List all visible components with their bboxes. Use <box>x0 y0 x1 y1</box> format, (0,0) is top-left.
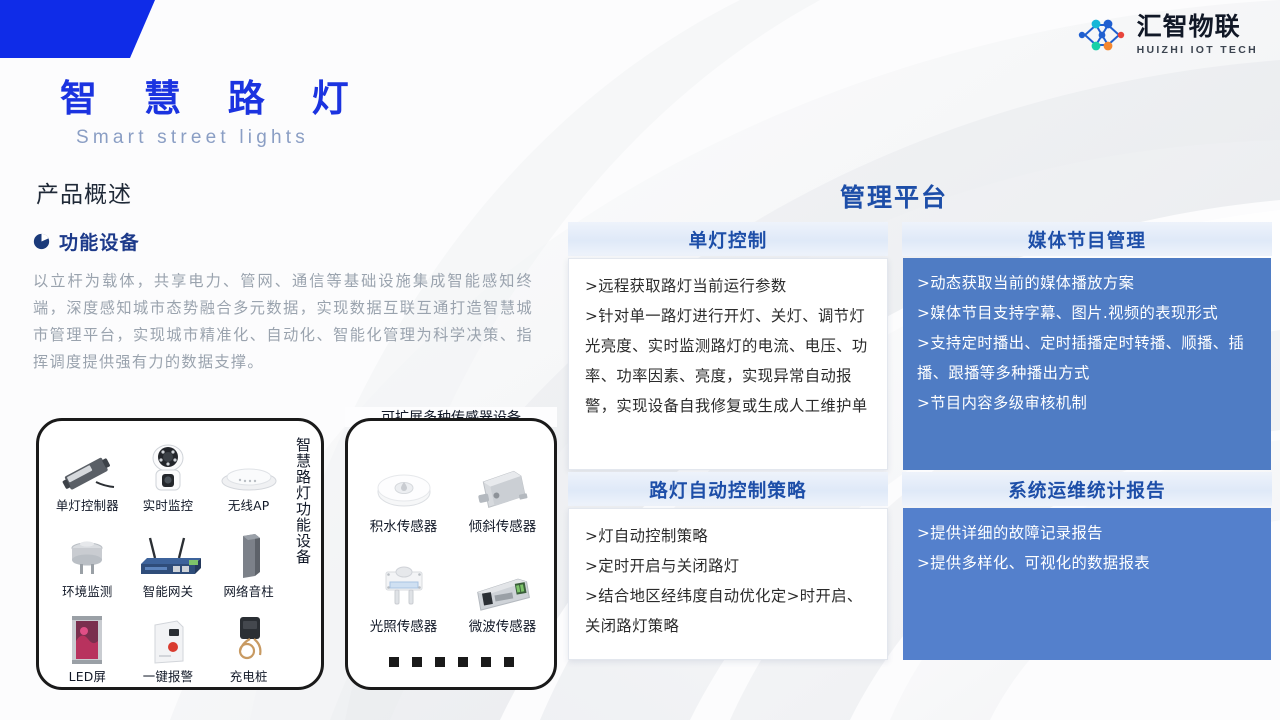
panel-line: >远程获取路灯当前运行参数 <box>585 271 873 301</box>
ptz-camera-icon <box>144 444 192 494</box>
microwave-sensor-icon <box>470 556 536 612</box>
device-item: 智能网关 <box>128 514 209 599</box>
led-screen-icon <box>67 615 107 665</box>
dot <box>458 657 468 667</box>
panel-line: >定时开启与关闭路灯 <box>585 551 873 581</box>
sensor-item: 积水传感器 <box>354 435 453 535</box>
device-item: 充电桩 <box>208 600 289 685</box>
dot <box>504 657 514 667</box>
wireless-ap-icon <box>218 444 280 494</box>
network-nodes-icon <box>1075 14 1129 56</box>
device-label: 智能网关 <box>143 582 193 600</box>
device-label: 充电桩 <box>230 667 268 685</box>
device-item: 网络音柱 <box>208 514 289 599</box>
device-label: 网络音柱 <box>223 582 273 600</box>
section-title-product-overview: 产品概述 <box>36 175 132 209</box>
device-label: 环境监测 <box>62 582 112 600</box>
dot <box>389 657 399 667</box>
tilt-sensor-icon <box>471 456 535 512</box>
panel-body-auto-control-strategy: >灯自动控制策略 >定时开启与关闭路灯 >结合地区经纬度自动优化定>时开启、关闭… <box>568 508 888 660</box>
water-level-sensor-icon <box>372 456 436 512</box>
overview-paragraph: 以立杆为载体，共享电力、管网、通信等基础设施集成智能感知终端，深度感知城市态势融… <box>33 268 533 376</box>
device-list-box: 单灯控制器 实时监控 <box>36 418 324 690</box>
device-item: 单灯控制器 <box>47 429 128 514</box>
panel-line: >灯自动控制策略 <box>585 521 873 551</box>
panel-line: >提供详细的故障记录报告 <box>917 518 1259 548</box>
platform-title: 管理平台 <box>840 178 948 214</box>
device-grid: 单灯控制器 实时监控 <box>47 429 289 685</box>
device-label: LED屏 <box>69 667 106 685</box>
panel-body-single-lamp-control: >远程获取路灯当前运行参数 >针对单一路灯进行开灯、关灯、调节灯光亮度、实时监测… <box>568 258 888 470</box>
sensor-item: 微波传感器 <box>453 535 552 635</box>
device-box-vertical-label: 智慧路灯功能设备 <box>287 437 313 675</box>
device-label: 一键报警 <box>143 667 193 685</box>
light-sensor-icon <box>372 556 436 612</box>
sensor-label: 光照传感器 <box>370 615 438 635</box>
feature-heading: 功能设备 <box>33 228 140 255</box>
panel-header-single-lamp-control: 单灯控制 <box>568 227 888 253</box>
device-item: 无线AP <box>208 429 289 514</box>
sensor-list-box: 积水传感器 倾斜传感器 <box>345 418 557 690</box>
device-item: 实时监控 <box>128 429 209 514</box>
device-label: 实时监控 <box>143 496 193 514</box>
device-item: LED屏 <box>47 600 128 685</box>
panel-header-ops-statistics-report: 系统运维统计报告 <box>902 477 1272 503</box>
panel-header-auto-control-strategy: 路灯自动控制策略 <box>568 477 888 503</box>
panel-line: >提供多样化、可视化的数据报表 <box>917 548 1259 578</box>
dot <box>435 657 445 667</box>
smart-gateway-icon <box>133 530 203 580</box>
network-speaker-icon <box>234 530 264 580</box>
device-item: 环境监测 <box>47 514 128 599</box>
brand-logo-text: 汇智物联 HUIZHI IOT TECH <box>1137 14 1258 55</box>
device-item: 一键报警 <box>128 600 209 685</box>
panel-line: >媒体节目支持字幕、图片.视频的表现形式 <box>917 298 1259 328</box>
lamp-controller-icon <box>56 444 118 494</box>
sensor-grid: 积水传感器 倾斜传感器 <box>354 435 552 635</box>
panel-body-media-program-management: >动态获取当前的媒体播放方案 >媒体节目支持字幕、图片.视频的表现形式 >支持定… <box>903 258 1271 470</box>
device-label: 单灯控制器 <box>56 496 119 514</box>
panel-header-media-program-management: 媒体节目管理 <box>902 227 1272 253</box>
brand-name-en: HUIZHI IOT TECH <box>1137 44 1258 56</box>
sensor-item: 光照传感器 <box>354 535 453 635</box>
panel-line: >结合地区经纬度自动优化定>时开启、关闭路灯策略 <box>585 581 873 641</box>
expansion-dots <box>348 657 554 667</box>
slide-root: 汇智物联 HUIZHI IOT TECH 智 慧 路 灯 Smart stree… <box>0 0 1280 720</box>
panel-line: >支持定时播出、定时插播定时转播、顺播、插播、跟播等多种播出方式 <box>917 328 1259 388</box>
feature-heading-label: 功能设备 <box>59 228 140 255</box>
brand-name-cn: 汇智物联 <box>1137 14 1241 40</box>
dot <box>481 657 491 667</box>
sensor-label: 微波传感器 <box>469 615 537 635</box>
sensor-item: 倾斜传感器 <box>453 435 552 535</box>
sensor-label: 倾斜传感器 <box>469 515 537 535</box>
pie-bullet-icon <box>33 233 50 250</box>
page-subtitle: Smart street lights <box>76 127 309 149</box>
dot <box>412 657 422 667</box>
sensor-label: 积水传感器 <box>370 515 438 535</box>
panel-line: >动态获取当前的媒体播放方案 <box>917 268 1259 298</box>
panel-body-ops-statistics-report: >提供详细的故障记录报告 >提供多样化、可视化的数据报表 <box>903 508 1271 660</box>
panel-line: >针对单一路灯进行开灯、关灯、调节灯光亮度、实时监测路灯的电流、电压、功率、功率… <box>585 301 873 421</box>
page-title: 智 慧 路 灯 <box>60 68 366 122</box>
panel-line: >节目内容多级审核机制 <box>917 388 1259 418</box>
device-label: 无线AP <box>228 496 270 514</box>
charging-pile-icon <box>228 615 270 665</box>
emergency-alarm-icon <box>147 615 189 665</box>
environment-sensor-icon <box>61 530 113 580</box>
brand-logo: 汇智物联 HUIZHI IOT TECH <box>1075 14 1258 56</box>
